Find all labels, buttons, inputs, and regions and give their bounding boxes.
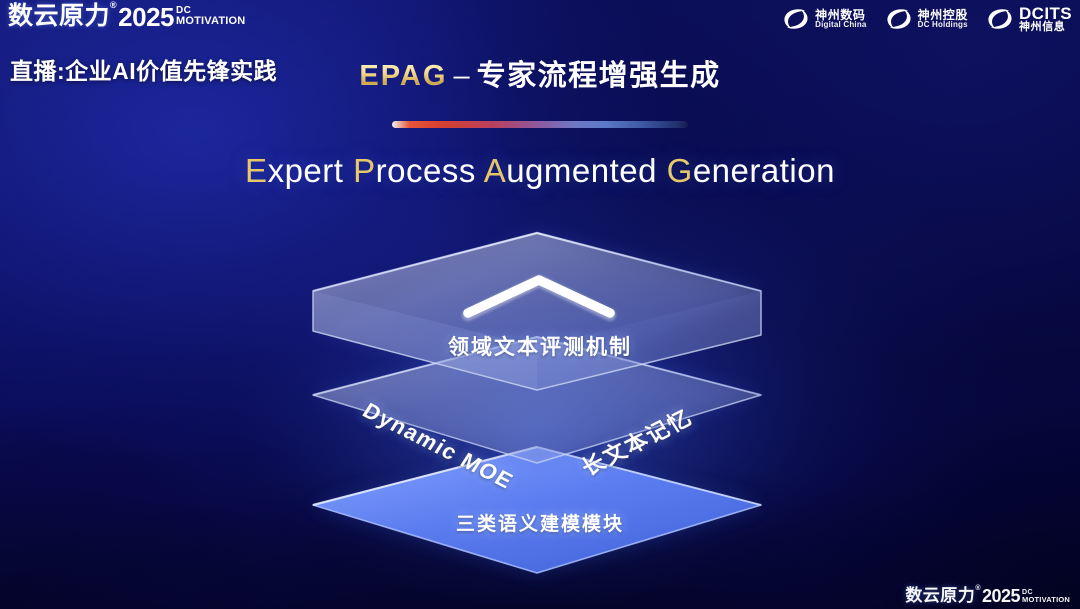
- partner-name-en: DC Holdings: [918, 21, 968, 29]
- partner-name-en: DCITS: [1019, 5, 1072, 22]
- title-dash: –: [453, 60, 470, 92]
- watermark-name-cn: 数云原力®: [905, 587, 981, 604]
- partner-name-cn: 神州信息: [1019, 22, 1072, 34]
- partner-text-digital-china: 神州数码 Digital China: [815, 9, 867, 30]
- registered-mark-icon: ®: [110, 0, 117, 10]
- partner-logo-dcits: DCITS 神州信息: [986, 5, 1072, 34]
- title-acronym: EPAG: [359, 60, 447, 92]
- watermark-motivation-label: MOTIVATION: [1022, 596, 1070, 604]
- partner-logo-digital-china: 神州数码 Digital China: [782, 6, 867, 32]
- swirl-logo-icon: [885, 6, 913, 32]
- partner-text-dcits: DCITS 神州信息: [1019, 5, 1072, 34]
- expansion-word-process: Process: [353, 152, 476, 189]
- title-chinese: 专家流程增强生成: [477, 60, 721, 92]
- partner-name-en: Digital China: [815, 21, 867, 29]
- expansion-word-generation: Generation: [667, 152, 835, 189]
- slide-canvas: 数云原力® 2025 DC MOTIVATION 直播:企业AI价值先锋实践 神…: [0, 0, 1080, 609]
- swirl-logo-icon: [782, 6, 810, 32]
- expansion-word-expert: Expert: [245, 152, 343, 189]
- watermark-year: 2025: [982, 587, 1020, 605]
- registered-mark-icon: ®: [975, 585, 981, 592]
- brand-motivation-label: MOTIVATION: [176, 16, 245, 28]
- accent-divider: [392, 121, 688, 128]
- brand-year: 2025: [118, 4, 174, 30]
- partner-logo-dc-holdings: 神州控股 DC Holdings: [885, 6, 968, 32]
- brand-name-cn: 数云原力®: [8, 4, 117, 29]
- brand-logo: 数云原力® 2025 DC MOTIVATION: [8, 4, 245, 30]
- expansion-word-augmented: Augmented: [484, 152, 657, 189]
- live-broadcast-title: 直播:企业AI价值先锋实践: [10, 52, 277, 86]
- swirl-logo-icon: [986, 6, 1014, 32]
- watermark-dc-motivation: DC MOTIVATION: [1022, 587, 1070, 604]
- footer-watermark-logo: 数云原力® 2025 DC MOTIVATION: [905, 587, 1070, 605]
- brand-dc-motivation: DC MOTIVATION: [176, 4, 245, 28]
- partner-logo-group: 神州数码 Digital China 神州控股 DC Holdings: [782, 5, 1072, 34]
- acronym-expansion: Expert Process Augmented Generation: [0, 152, 1080, 190]
- partner-text-dc-holdings: 神州控股 DC Holdings: [918, 9, 968, 30]
